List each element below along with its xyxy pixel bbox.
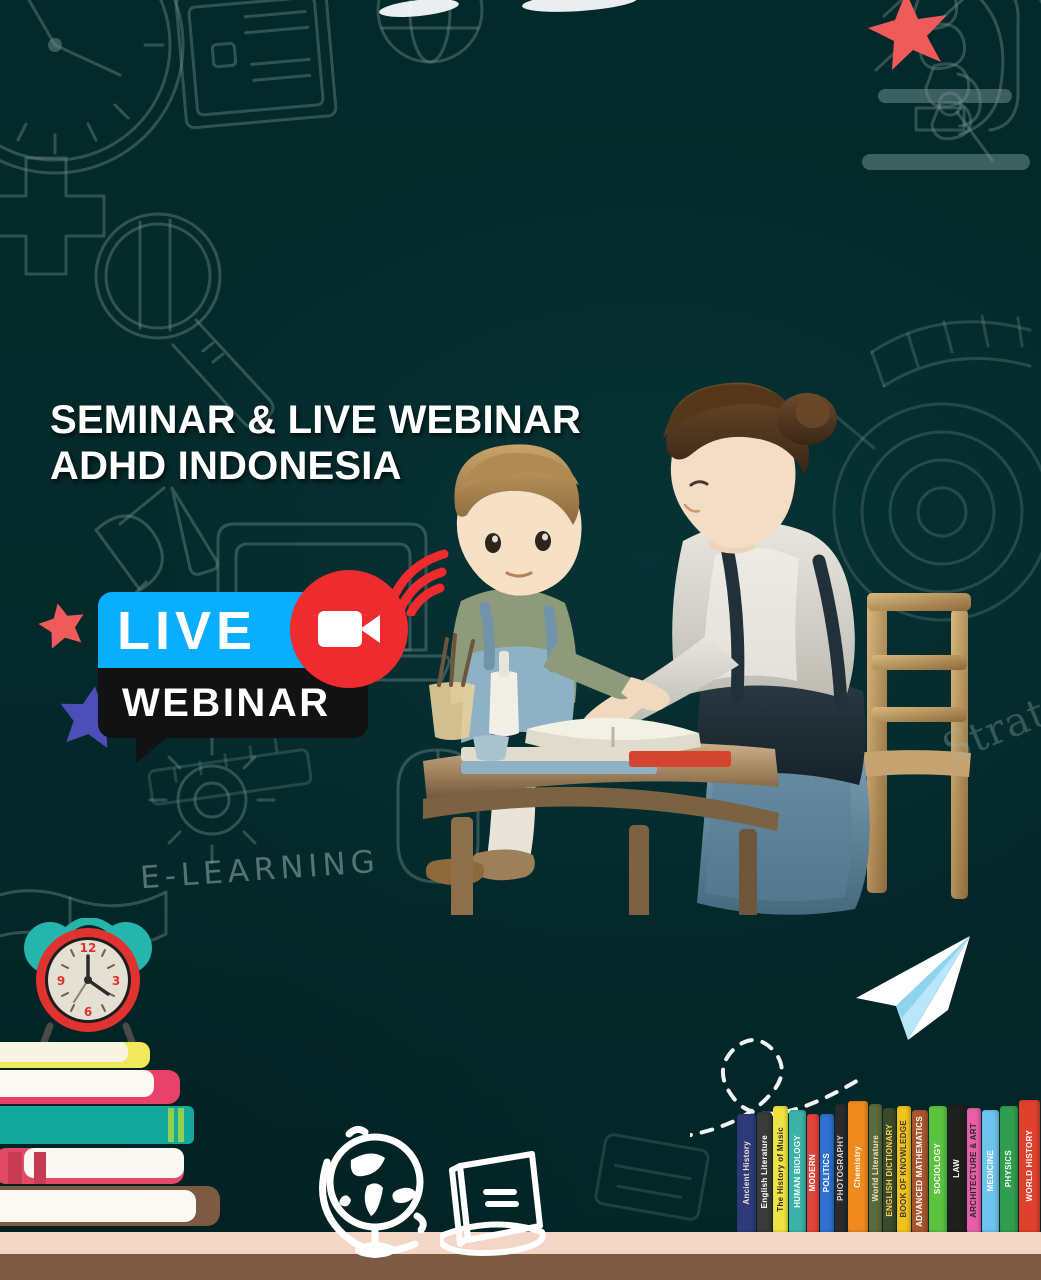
- book-spine-title: ADVANCED MATHEMATICS: [916, 1116, 924, 1227]
- book-spine-title: Ancient History: [743, 1141, 751, 1205]
- book-spine-title: The History of Music: [777, 1127, 785, 1212]
- hand-icon: [914, 0, 1041, 139]
- live-label: LIVE: [98, 604, 257, 658]
- book-spine-title: PHYSICS: [1005, 1150, 1013, 1187]
- book-spine: ENGLISH DICTIONARY: [883, 1108, 896, 1232]
- svg-text:12: 12: [80, 941, 97, 955]
- book-spine-title: Chemistry: [854, 1146, 862, 1188]
- svg-text:9: 9: [57, 974, 65, 988]
- book-spine-title: HUMAN BIOLOGY: [794, 1135, 802, 1208]
- book-spine: ARCHITECTURE & ART: [967, 1108, 981, 1232]
- alarm-clock-icon: 12 3 6 9: [8, 918, 168, 1048]
- book-spine: SOCIOLOGY: [929, 1106, 947, 1232]
- book-spine: Ancient History: [737, 1114, 756, 1232]
- chalk-smudge: [378, 0, 638, 20]
- book-spine-title: World Literature: [872, 1135, 880, 1201]
- plus-icon: [0, 158, 104, 274]
- svg-text:3: 3: [112, 974, 120, 988]
- book-spine: WORLD HISTORY: [1019, 1100, 1040, 1232]
- book-spine-title: SOCIOLOGY: [934, 1143, 942, 1194]
- webinar-label: WEBINAR: [98, 683, 331, 723]
- speech-bubble-tail: [136, 735, 170, 763]
- clipboard-icon: [176, 0, 337, 128]
- globe-sketch-icon: [305, 1124, 445, 1260]
- microscope-icon: [870, 0, 1022, 162]
- globe-icon: [378, 0, 482, 62]
- book-spine: BOOK OF KNOWLEDGE: [897, 1106, 911, 1232]
- video-camera-icon: [318, 611, 380, 647]
- bookshelf-row: Ancient HistoryEnglish LiteratureThe His…: [737, 1100, 1041, 1232]
- book-spine: LAW: [948, 1104, 966, 1232]
- book-spine-title: BOOK OF KNOWLEDGE: [900, 1120, 908, 1218]
- star-coral-accent: [868, 0, 947, 70]
- book-spine: PHOTOGRAPHY: [835, 1104, 847, 1232]
- woman-figure: [582, 383, 869, 915]
- clock-icon: [0, 0, 183, 173]
- book-spine: English Literature: [757, 1112, 772, 1232]
- book-spine-title: English Literature: [761, 1135, 769, 1208]
- book-spine: MODERN: [807, 1114, 819, 1232]
- book-spine-title: POLITICS: [823, 1153, 831, 1192]
- book-spine: POLITICS: [820, 1114, 834, 1232]
- book-spine-title: ENGLISH DICTIONARY: [886, 1124, 894, 1217]
- live-webinar-badge[interactable]: LIVE WEBINAR: [98, 592, 383, 762]
- book-spine: HUMAN BIOLOGY: [789, 1110, 806, 1232]
- book-spine: World Literature: [869, 1104, 882, 1232]
- elearning-chalk-text: E-LEARNING: [139, 844, 381, 897]
- book-spine-title: ARCHITECTURE & ART: [970, 1123, 978, 1218]
- watercolor-illustration: [415, 355, 1015, 915]
- book-spine: ADVANCED MATHEMATICS: [912, 1110, 928, 1232]
- book-spine-title: PHOTOGRAPHY: [837, 1135, 845, 1201]
- magnifier-icon: [96, 214, 273, 427]
- book-spine-title: WORLD HISTORY: [1026, 1130, 1034, 1201]
- record-circle[interactable]: [290, 570, 408, 688]
- stacked-books-icon: [0, 1040, 263, 1250]
- book-spine-title: LAW: [953, 1159, 961, 1178]
- star-coral-icon: [38, 600, 86, 648]
- book-spine: Chemistry: [848, 1101, 868, 1232]
- book-spine-title: MODERN: [809, 1154, 817, 1191]
- svg-text:6: 6: [84, 1005, 92, 1019]
- calculator-icon: [595, 1134, 710, 1221]
- tablet-on-stand-sketch-icon: [440, 1138, 560, 1260]
- book-spine: The History of Music: [773, 1106, 788, 1232]
- book-spine: PHYSICS: [1000, 1106, 1018, 1232]
- book-spine-title: MEDICINE: [987, 1150, 995, 1192]
- paper-plane-icon: [852, 932, 974, 1044]
- book-spine: MEDICINE: [982, 1110, 999, 1232]
- poster-canvas: SEMINAR & LIVE WEBINAR ADHD INDONESIA: [0, 0, 1041, 1280]
- pencil-icon: [172, 488, 217, 574]
